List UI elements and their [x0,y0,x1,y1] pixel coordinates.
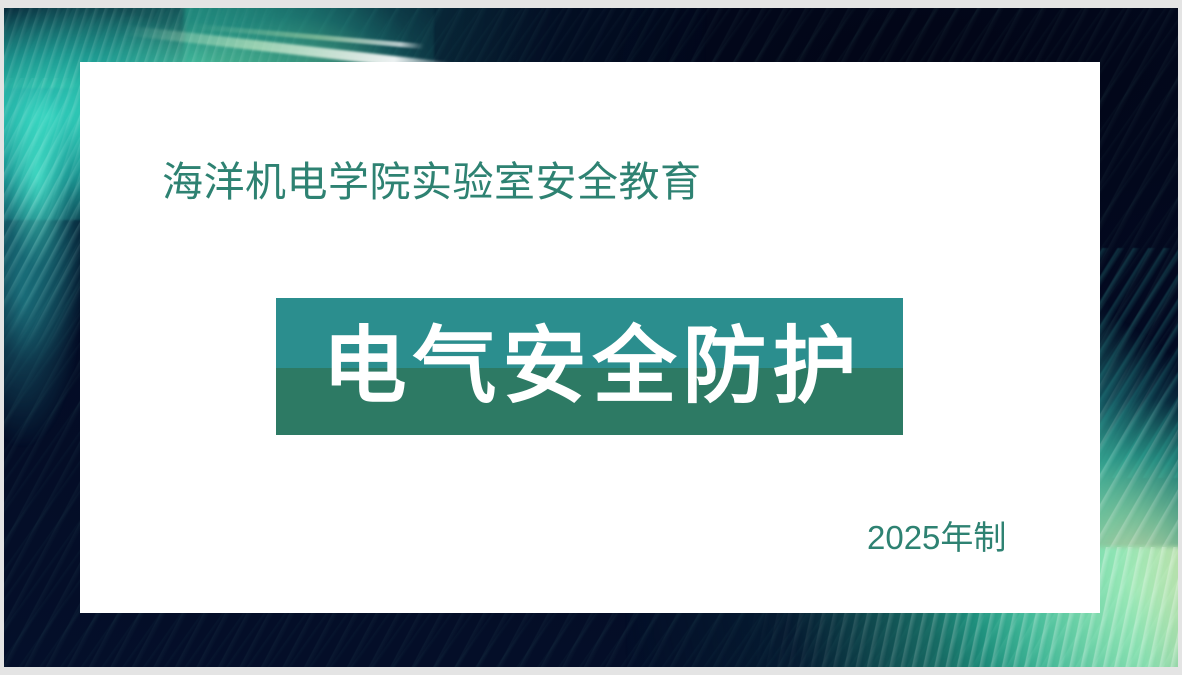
slide-content-card: 海洋机电学院实验室安全教育 电气安全防护 2025年制 [80,62,1100,613]
slide-root: 海洋机电学院实验室安全教育 电气安全防护 2025年制 [0,0,1182,675]
slide-title: 电气安全防护 [316,324,862,408]
slide-subtitle: 海洋机电学院实验室安全教育 [162,162,702,203]
slide-year-note: 2025年制 [867,521,1006,554]
slide-title-banner: 电气安全防护 [276,298,903,435]
